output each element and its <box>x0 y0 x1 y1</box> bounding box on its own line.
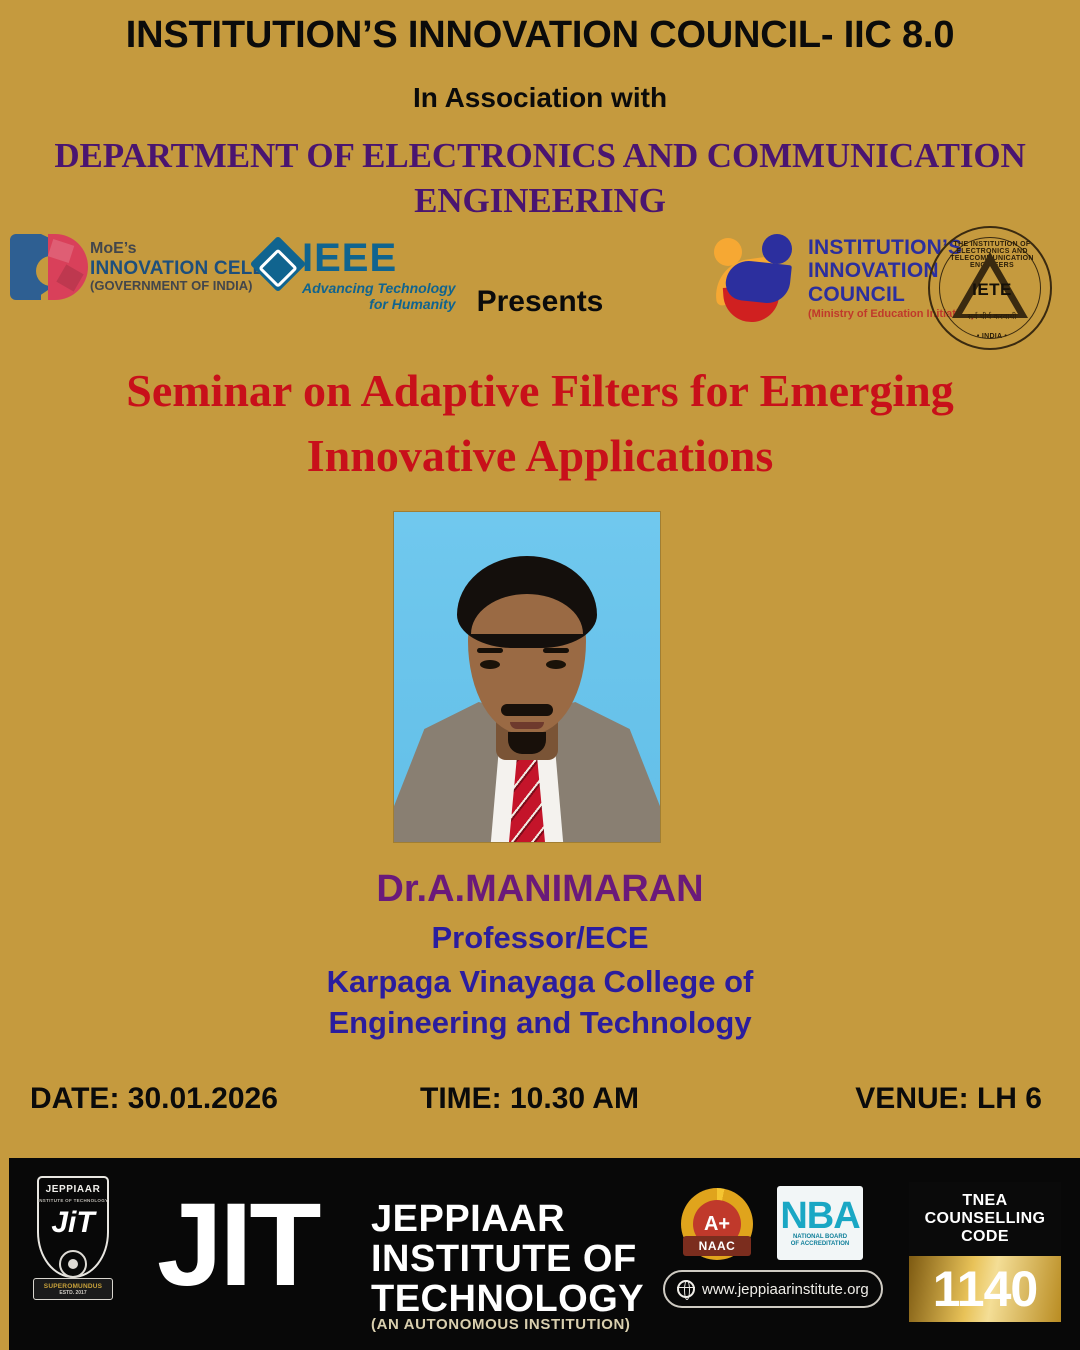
header-department-title: DEPARTMENT OF ELECTRONICS AND COMMUNICAT… <box>0 134 1080 224</box>
website-pill[interactable]: www.jeppiaarinstitute.org <box>663 1270 883 1308</box>
ieee-wordmark: IEEE <box>302 238 456 278</box>
photo-moustache <box>501 704 553 716</box>
shield-emblem-icon <box>59 1250 87 1278</box>
speaker-affiliation: Karpaga Vinayaga College of Engineering … <box>0 962 1080 1044</box>
nba-sub-line2: OF ACCREDITATION <box>791 1241 850 1248</box>
speaker-role: Professor/ECE <box>0 920 1080 956</box>
moe-line1: MoE’s <box>90 240 264 258</box>
shield-ribbon-bottom: ESTD. 2017 <box>59 1290 86 1296</box>
institute-name-line3: TECHNOLOGY <box>371 1280 644 1320</box>
shield-sub-text: INSTITUTE OF TECHNOLOGY <box>37 1198 109 1203</box>
photo-goatee <box>508 732 546 754</box>
institute-name-line1: JEPPIAAR <box>371 1200 644 1240</box>
event-time: TIME: 10.30 AM <box>420 1082 750 1116</box>
speaker-name: Dr.A.MANIMARAN <box>0 868 1080 911</box>
shield-top-text: JEPPIAAR <box>37 1184 109 1195</box>
event-date: DATE: 30.01.2026 <box>0 1082 420 1116</box>
event-poster: INSTITUTION’S INNOVATION COUNCIL- IIC 8.… <box>0 0 1080 1350</box>
shield-monogram: JiT <box>37 1206 109 1240</box>
tnea-line2: COUNSELLING <box>925 1210 1046 1228</box>
website-url: www.jeppiaarinstitute.org <box>702 1281 869 1298</box>
event-venue: VENUE: LH 6 <box>750 1082 1080 1116</box>
seminar-title-line2: Innovative Applications <box>60 423 1020 488</box>
ieee-diamond-icon <box>250 236 307 293</box>
speaker-photo <box>394 512 660 842</box>
moe-line2: INNOVATION CELL <box>90 258 264 279</box>
event-details-row: DATE: 30.01.2026 TIME: 10.30 AM VENUE: L… <box>0 1082 1080 1116</box>
photo-eye-left <box>480 660 500 669</box>
tnea-label: TNEA COUNSELLING CODE <box>909 1182 1061 1256</box>
shield-ribbon-top: SUPEROMUNDUS <box>44 1283 102 1290</box>
photo-eye-right <box>546 660 566 669</box>
speaker-affiliation-line2: Engineering and Technology <box>0 1003 1080 1044</box>
photo-eyebrow-right <box>543 648 569 653</box>
presents-label: Presents <box>0 285 1080 319</box>
globe-icon <box>677 1280 695 1298</box>
naac-badge: A+ NAAC <box>681 1188 753 1260</box>
jit-abbreviation: JIT <box>157 1186 319 1304</box>
photo-mouth <box>510 722 544 729</box>
header-iic-title: INSTITUTION’S INNOVATION COUNCIL- IIC 8.… <box>0 14 1080 57</box>
speaker-affiliation-line1: Karpaga Vinayaga College of <box>0 962 1080 1003</box>
seminar-title: Seminar on Adaptive Filters for Emerging… <box>60 358 1020 489</box>
seminar-title-line1: Seminar on Adaptive Filters for Emerging <box>60 358 1020 423</box>
tnea-line3: CODE <box>961 1228 1009 1246</box>
institute-name: JEPPIAAR INSTITUTE OF TECHNOLOGY <box>371 1200 644 1320</box>
autonomous-label: (AN AUTONOMOUS INSTITUTION) <box>371 1316 631 1333</box>
nba-abbr: NBA <box>780 1198 859 1234</box>
tnea-counselling-badge: TNEA COUNSELLING CODE 1140 <box>909 1182 1061 1322</box>
jit-shield-logo: JEPPIAAR INSTITUTE OF TECHNOLOGY JiT SUP… <box>37 1176 109 1300</box>
header-association-line: In Association with <box>0 82 1080 114</box>
photo-eyebrow-left <box>477 648 503 653</box>
naac-label: NAAC <box>683 1236 751 1256</box>
tnea-line1: TNEA <box>962 1192 1007 1210</box>
footer-band: JEPPIAAR INSTITUTE OF TECHNOLOGY JiT SUP… <box>0 1158 1080 1350</box>
tnea-code: 1140 <box>909 1256 1061 1322</box>
shield-ribbon: SUPEROMUNDUS ESTD. 2017 <box>33 1278 113 1300</box>
iete-ring-bottom-text: • INDIA • <box>930 333 1054 340</box>
iic-blue-dot-icon <box>762 234 792 264</box>
nba-sub-line1: NATIONAL BOARD <box>793 1234 847 1241</box>
institute-name-line2: INSTITUTE OF <box>371 1240 644 1280</box>
nba-badge: NBA NATIONAL BOARD OF ACCREDITATION <box>777 1186 863 1260</box>
